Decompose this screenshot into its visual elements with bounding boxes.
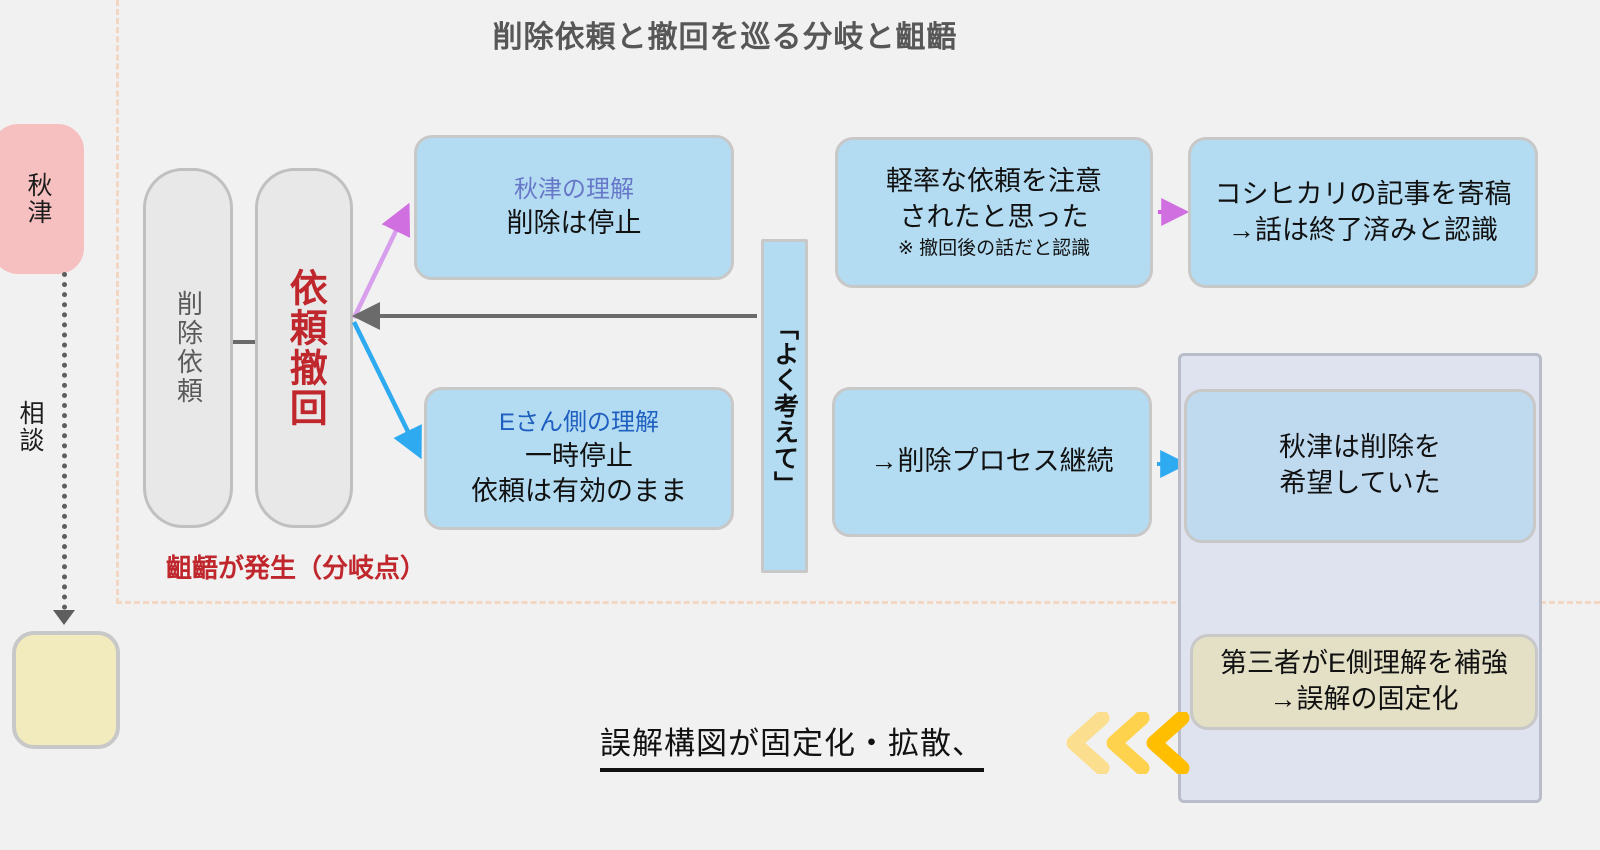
step-deletion-request: 削除依頼 — [143, 168, 233, 528]
box-deletion-process: →削除プロセス継続 — [832, 387, 1152, 537]
step-deletion-request-label: 削除依頼 — [173, 290, 202, 406]
step-request-withdrawal-label: 依頼撤回 — [283, 268, 326, 428]
box-third-party-line1: 第三者がE側理解を補強 — [1220, 646, 1508, 682]
box-keisotsu-line1: 軽率な依頼を注意 — [886, 164, 1102, 200]
conclusion-text: 誤解構図が固定化・拡散、 — [600, 718, 984, 772]
branch-box-akitsu: 秋津の理解 削除は停止 — [414, 135, 734, 280]
chevron-left-icon-1 — [1074, 718, 1102, 768]
chevron-left-icon-2 — [1114, 718, 1142, 768]
chevron-group — [1060, 712, 1190, 774]
reconsider-label: 「よく考えて」 — [771, 315, 799, 497]
consult-dotted-line — [62, 272, 67, 620]
actor-akitsu-pill: 秋津 — [0, 124, 84, 274]
consult-arrowhead-icon — [53, 610, 75, 625]
box-keisotsu-note: ※ 撤回後の話だと認識 — [898, 236, 1090, 261]
branch-box-eside: Eさん側の理解 一時停止 依頼は有効のまま — [424, 387, 734, 530]
box-koshihikari-line2: →話は終了済みと認識 — [1228, 213, 1498, 249]
box-keisotsu: 軽率な依頼を注意 されたと思った ※ 撤回後の話だと認識 — [835, 137, 1153, 288]
chevron-left-icon-3 — [1154, 718, 1182, 768]
branch-box-eside-heading: Eさん側の理解 — [499, 407, 659, 439]
consult-label: 相談 — [6, 400, 54, 454]
branch-box-akitsu-heading: 秋津の理解 — [514, 174, 634, 206]
branch-arrow-eside-icon — [354, 322, 418, 452]
page-title: 削除依頼と撤回を巡る分岐と齟齬 — [0, 12, 1450, 56]
divergence-caption: 齟齬が発生（分岐点） — [166, 548, 426, 585]
branch-box-eside-line2: 依頼は有効のまま — [471, 474, 687, 510]
box-akitsu-wished-deletion-line1: 秋津は削除を — [1279, 430, 1441, 466]
box-akitsu-wished-deletion: 秋津は削除を 希望していた — [1184, 389, 1536, 543]
consult-target-box — [12, 631, 120, 749]
box-deletion-process-line1: →削除プロセス継続 — [871, 444, 1114, 480]
reconsider-box: 「よく考えて」 — [761, 239, 808, 573]
diagram-canvas: 削除依頼と撤回を巡る分岐と齟齬 秋津 相談 削除依頼 依頼撤回 齟齬が発生（分岐… — [0, 0, 1600, 850]
box-third-party-line2: →誤解の固定化 — [1270, 682, 1459, 718]
step-request-withdrawal: 依頼撤回 — [255, 168, 353, 528]
vertical-dashed-divider — [116, 0, 119, 604]
branch-arrow-akitsu-icon — [354, 210, 406, 318]
box-koshihikari-line1: コシヒカリの記事を寄稿 — [1215, 177, 1512, 213]
box-third-party: 第三者がE側理解を補強 →誤解の固定化 — [1190, 634, 1538, 730]
branch-box-akitsu-body: 削除は停止 — [507, 206, 642, 242]
box-akitsu-wished-deletion-line2: 希望していた — [1279, 466, 1440, 502]
box-koshihikari: コシヒカリの記事を寄稿 →話は終了済みと認識 — [1188, 137, 1538, 288]
branch-box-eside-line1: 一時停止 — [525, 439, 633, 475]
arrow-request-to-withdraw-icon — [233, 340, 257, 344]
actor-akitsu-label: 秋津 — [24, 172, 52, 226]
box-keisotsu-line2: されたと思った — [900, 200, 1089, 236]
